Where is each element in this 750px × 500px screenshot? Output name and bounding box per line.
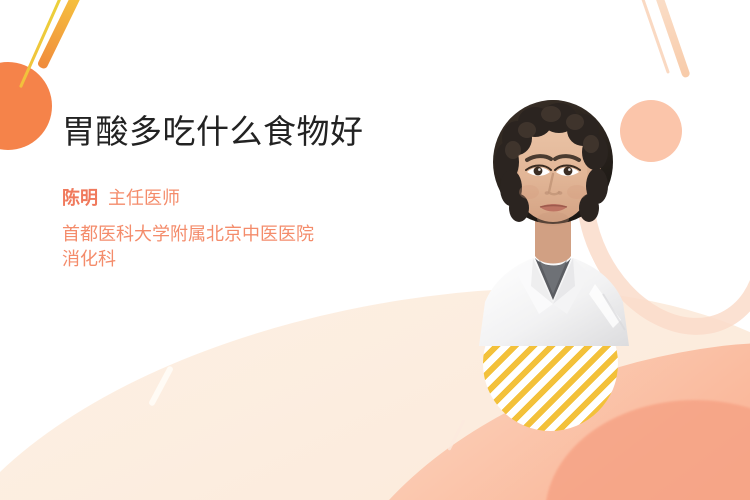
doctor-portrait-image bbox=[455, 88, 651, 346]
doctor-title: 主任医师 bbox=[108, 188, 180, 208]
doctor-info-card: 胃酸多吃什么食物好 陈明主任医师 首都医科大学附属北京中医医院 消化科 bbox=[0, 0, 750, 500]
white-thin-slash-icon bbox=[447, 419, 465, 451]
page-title: 胃酸多吃什么食物好 bbox=[62, 112, 422, 152]
salmon-blob-shape bbox=[545, 400, 750, 500]
orange-slash-icon bbox=[37, 0, 84, 70]
orange-circle-icon bbox=[0, 62, 52, 150]
doctor-name: 陈明 bbox=[62, 188, 98, 208]
peach-slash-icon bbox=[649, 0, 690, 78]
white-slash-icon bbox=[148, 365, 174, 407]
doctor-hospital: 首都医科大学附属北京中医医院 bbox=[62, 222, 422, 248]
doctor-identity-line: 陈明主任医师 bbox=[62, 188, 422, 210]
peach-thin-slash-icon bbox=[635, 0, 670, 74]
doctor-department: 消化科 bbox=[62, 247, 422, 273]
yellow-slash-icon bbox=[19, 0, 64, 88]
doctor-affiliation: 首都医科大学附属北京中医医院 消化科 bbox=[62, 222, 422, 273]
text-content-block: 胃酸多吃什么食物好 陈明主任医师 首都医科大学附属北京中医医院 消化科 bbox=[62, 112, 422, 273]
